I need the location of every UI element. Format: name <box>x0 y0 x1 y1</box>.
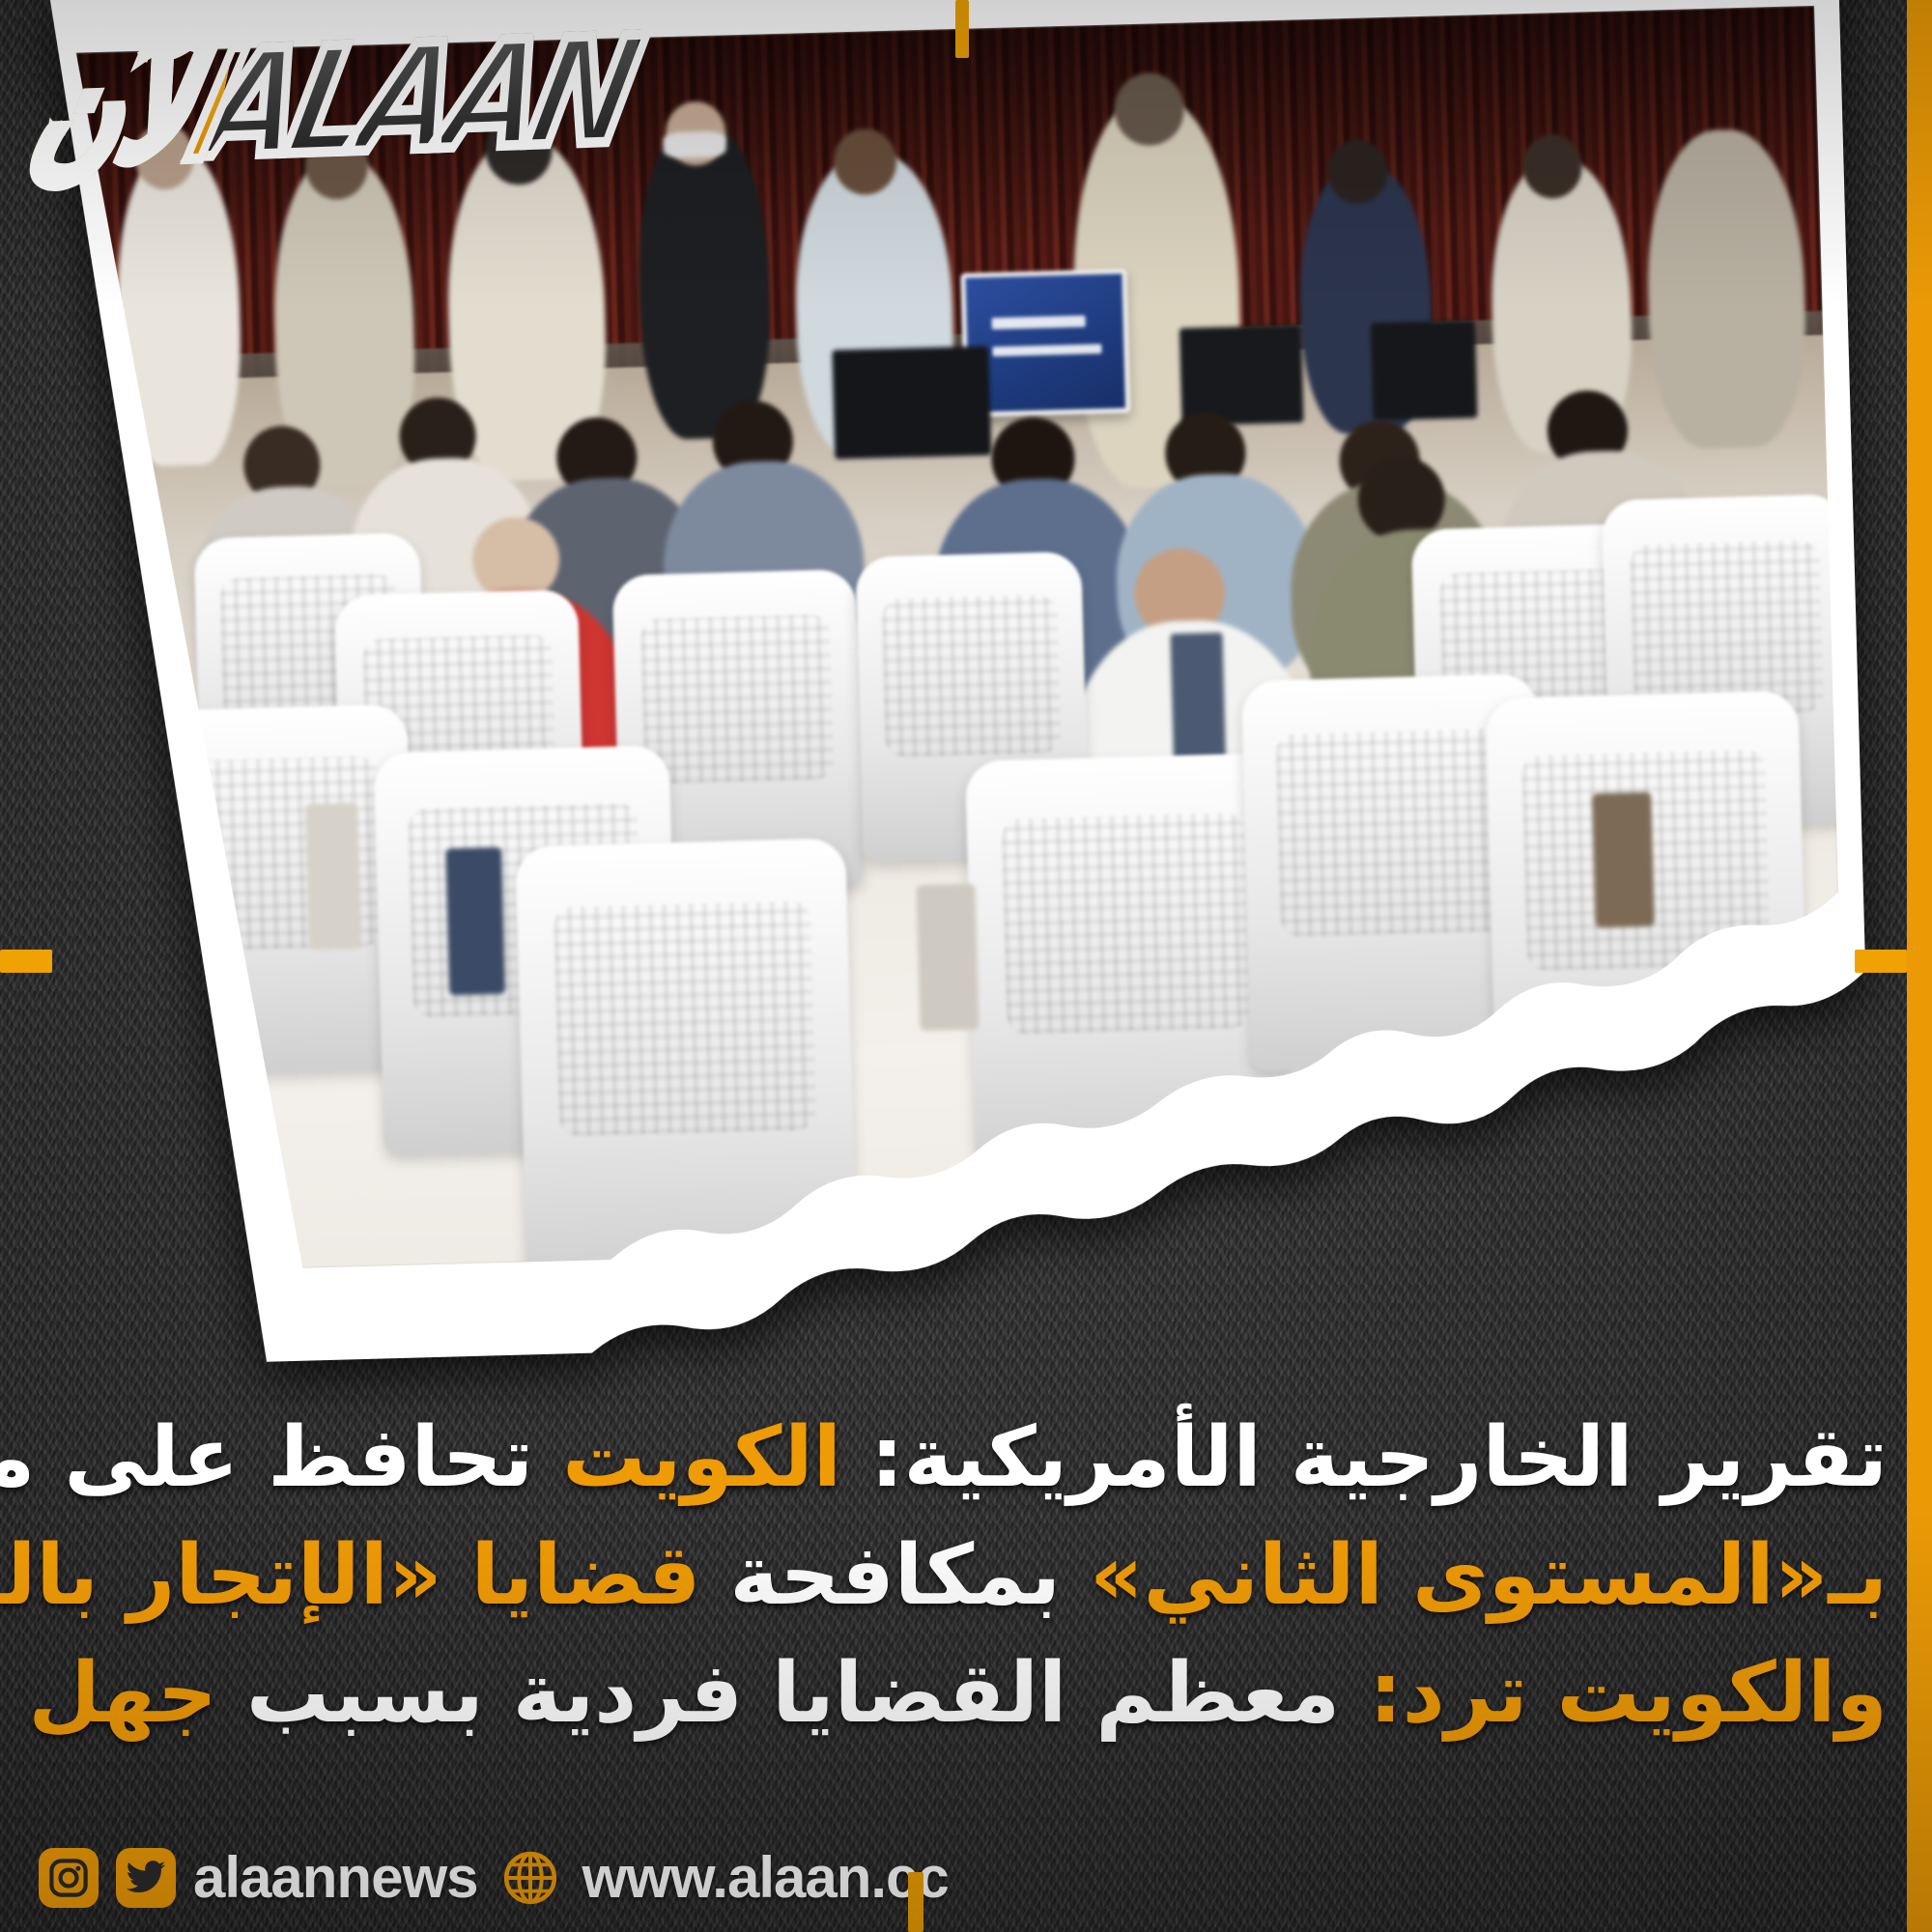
photo-container <box>49 0 1875 1367</box>
instagram-icon[interactable] <box>39 1848 99 1908</box>
logo-latin-text: ALAAN <box>192 25 641 172</box>
footer-bar: alaannews www.alaan.cc <box>39 1844 949 1911</box>
headline-seg-accent: والكويت ترد: <box>1369 1645 1888 1742</box>
headline-line-2: بـ«المستوى الثاني» بمكافحة قضايا «الإتجا… <box>44 1517 1888 1634</box>
alaan-logo[interactable]: ALAANالآن <box>35 36 629 167</box>
headline-seg-accent: بـ«المستوى الثاني» <box>1090 1527 1888 1624</box>
social-handle[interactable]: alaannews <box>193 1844 478 1911</box>
bottom-accent-tick <box>908 1872 923 1932</box>
logo-arabic-text: الآن <box>23 46 234 179</box>
monitor <box>1371 321 1478 421</box>
left-accent-tick <box>0 950 52 973</box>
globe-icon <box>499 1847 561 1909</box>
leg <box>1592 792 1655 928</box>
twitter-icon[interactable] <box>116 1848 176 1908</box>
news-card: ALAANالآن تقرير الخارجية الأمريكية: الكو… <box>0 0 1932 1932</box>
headline-seg: تقرير الخارجية الأمريكية: <box>870 1409 1888 1506</box>
plastic-chair <box>965 753 1290 1177</box>
headline-seg-accent: جهل القانون <box>0 1645 217 1742</box>
leg <box>305 803 361 951</box>
face-mask <box>663 130 726 159</box>
photo-scene <box>76 6 1848 1273</box>
plastic-chair <box>128 703 416 1077</box>
website-url[interactable]: www.alaan.cc <box>582 1844 949 1911</box>
headline-seg: تحافظ على مكانها <box>0 1409 533 1506</box>
monitor <box>1179 325 1304 425</box>
top-accent-tick <box>955 0 969 58</box>
headline-seg: بمكافحة <box>729 1527 1061 1624</box>
headline-line-1: تقرير الخارجية الأمريكية: الكويت تحافظ ع… <box>44 1399 1888 1517</box>
headline: تقرير الخارجية الأمريكية: الكويت تحافظ ع… <box>0 1399 1932 1752</box>
right-accent-bar <box>1907 0 1932 1932</box>
monitor <box>832 346 991 460</box>
leg <box>916 884 979 1032</box>
photo-image <box>76 6 1848 1273</box>
right-accent-tick <box>1855 950 1907 973</box>
headline-seg-accent: الكويت <box>562 1409 841 1506</box>
headline-seg-accent: قضايا «الإتجار بالبشر» <box>0 1527 700 1624</box>
plastic-chair <box>515 838 857 1274</box>
headline-line-3: والكويت ترد: معظم القضايا فردية بسبب جهل… <box>44 1634 1888 1752</box>
headline-seg: معظم القضايا فردية بسبب <box>246 1645 1340 1742</box>
leg <box>445 847 505 995</box>
